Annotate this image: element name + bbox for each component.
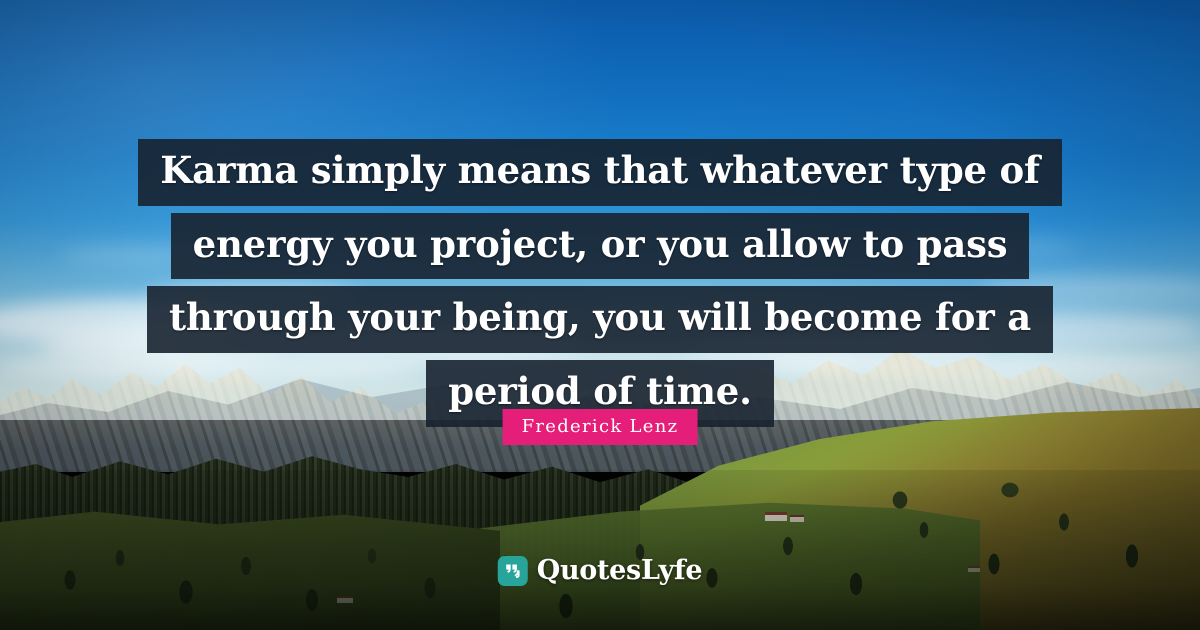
quote-line: through your being, you will become for … [147,286,1053,353]
quote-card: Karma simply means that whatever type of… [0,0,1200,630]
brand-name: QuotesLyfe [537,555,703,586]
author-badge: Frederick Lenz [503,409,698,445]
brand-logo[interactable]: QuotesLyfe [498,555,703,586]
quote-marks-icon [498,556,528,586]
quote-line: Karma simply means that whatever type of [138,139,1061,206]
valley-shadow-overlay [0,470,1200,630]
quote-line: energy you project, or you allow to pass [171,213,1030,280]
quote-text-block: Karma simply means that whatever type of… [0,0,1200,427]
